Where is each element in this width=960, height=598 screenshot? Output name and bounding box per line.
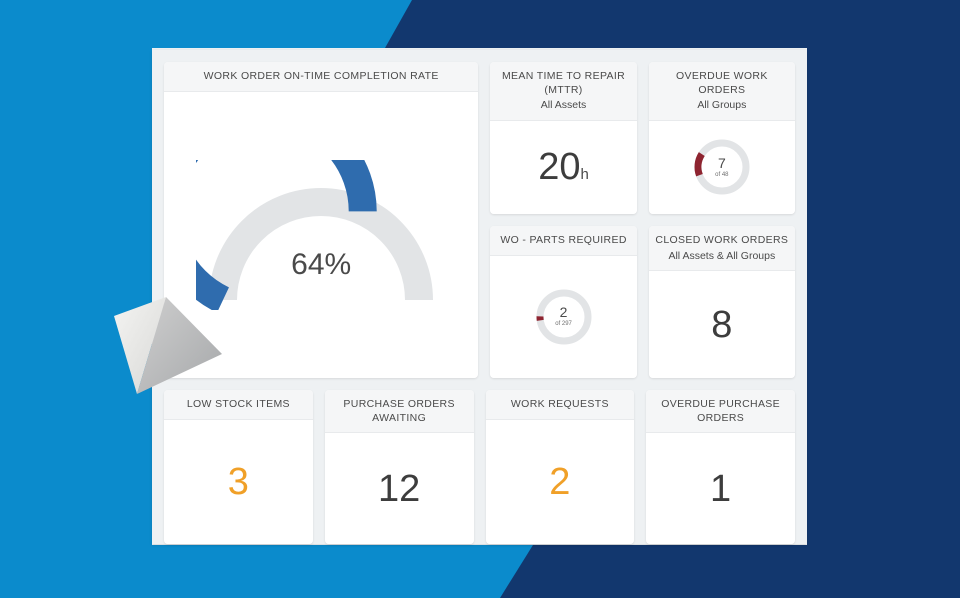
donut-total-label: of 48 (715, 171, 728, 179)
card-closed-work-orders[interactable]: CLOSED WORK ORDERS All Assets & All Grou… (649, 226, 795, 378)
card-title-text: CLOSED WORK ORDERS (655, 234, 788, 246)
gauge-value-label: 64% (196, 248, 446, 282)
card-overdue-purchase-orders[interactable]: OVERDUE PURCHASE ORDERS 1 (646, 390, 795, 544)
card-mean-time-to-repair[interactable]: MEAN TIME TO REPAIR (MTTR) All Assets 20… (490, 62, 636, 214)
dashboard-panel: WORK ORDER ON-TIME COMPLETION RATE 64% (152, 50, 807, 544)
card-title: CLOSED WORK ORDERS All Assets & All Grou… (649, 226, 795, 271)
donut-value: 7 (718, 156, 726, 170)
card-subtitle: All Assets & All Groups (655, 250, 789, 264)
card-subtitle: All Groups (655, 99, 789, 113)
gauge-chart: 64% (196, 160, 446, 310)
donut-value: 2 (560, 305, 568, 319)
mttr-value: 20h (538, 148, 589, 186)
card-work-requests[interactable]: WORK REQUESTS 2 (486, 390, 635, 544)
mttr-number: 20 (538, 146, 580, 188)
card-overdue-work-orders[interactable]: OVERDUE WORK ORDERS All Groups 7 of 48 (649, 62, 795, 214)
work-requests-value: 2 (549, 463, 570, 501)
donut-chart-overdue-work-orders: 7 of 48 (691, 136, 753, 198)
card-subtitle: All Assets (496, 99, 630, 113)
card-title-text: OVERDUE WORK ORDERS (676, 70, 768, 96)
donut-chart-parts-required: 2 of 297 (533, 286, 595, 348)
purchase-orders-awaiting-value: 12 (378, 470, 420, 508)
card-title: WORK ORDER ON-TIME COMPLETION RATE (164, 62, 478, 92)
closed-work-orders-value: 8 (711, 306, 732, 344)
card-title: WO - PARTS REQUIRED (490, 226, 636, 256)
low-stock-items-value: 3 (228, 463, 249, 501)
card-low-stock-items[interactable]: LOW STOCK ITEMS 3 (164, 390, 313, 544)
card-title: OVERDUE PURCHASE ORDERS (646, 390, 795, 433)
mttr-unit: h (581, 166, 589, 183)
gauge-svg (196, 160, 446, 310)
overdue-purchase-orders-value: 1 (710, 470, 731, 508)
card-title: WORK REQUESTS (486, 390, 635, 420)
card-title: OVERDUE WORK ORDERS All Groups (649, 62, 795, 121)
card-title: PURCHASE ORDERS AWAITING (325, 390, 474, 433)
card-title: MEAN TIME TO REPAIR (MTTR) All Assets (490, 62, 636, 121)
marble-pyramid-decoration (104, 292, 229, 398)
card-title-text: MEAN TIME TO REPAIR (MTTR) (502, 70, 625, 96)
card-purchase-orders-awaiting[interactable]: PURCHASE ORDERS AWAITING 12 (325, 390, 474, 544)
donut-total-label: of 297 (555, 320, 572, 328)
card-wo-parts-required[interactable]: WO - PARTS REQUIRED 2 of 297 (490, 226, 636, 378)
